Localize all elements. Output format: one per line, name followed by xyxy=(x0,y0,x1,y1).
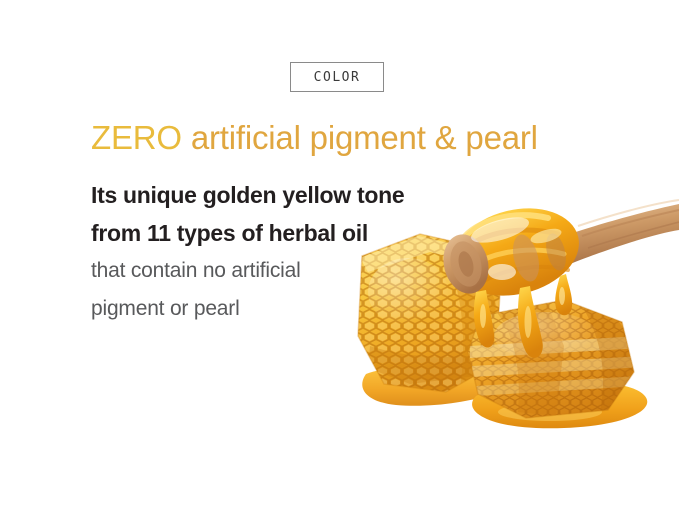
page-title: ZERO artificial pigment & pearl xyxy=(91,118,538,158)
headline-emphasis: ZERO xyxy=(91,119,182,156)
color-badge: COLOR xyxy=(290,62,384,92)
promo-panel: COLOR ZERO artificial pigment & pearl It… xyxy=(0,0,679,512)
honey-illustration xyxy=(350,196,679,441)
headline-rest: artificial pigment & pearl xyxy=(182,119,538,156)
color-badge-label: COLOR xyxy=(314,71,361,84)
honeycomb-honey-dipper-image xyxy=(350,196,679,441)
